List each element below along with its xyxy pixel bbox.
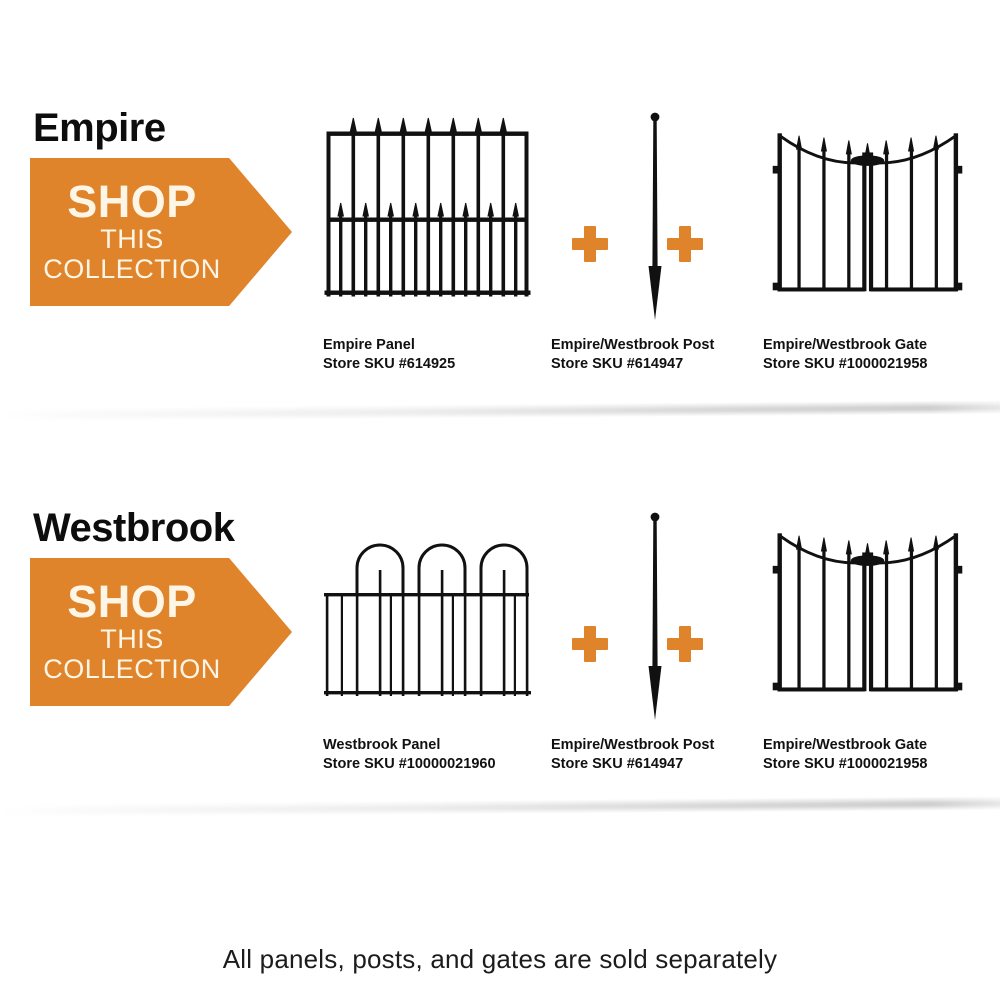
product-caption-empire-panel: Empire Panel Store SKU #614925 [323,336,543,374]
product-empire-panel[interactable]: Empire Panel Store SKU #614925 [315,108,540,398]
product-sku: Store SKU #1000021958 [763,355,983,374]
product-empire-gate[interactable]: Empire/Westbrook Gate Store SKU #1000021… [755,108,980,398]
westbrook-panel-icon [315,508,540,730]
collection-title-empire: Empire [33,108,310,148]
collection-row-empire: Empire SHOP THIS COLLECTION [0,108,1000,408]
collection-row-westbrook: Westbrook SHOP THIS COLLECTION [0,508,1000,808]
product-name: Empire/Westbrook Gate [763,336,983,355]
product-caption-empire-gate: Empire/Westbrook Gate Store SKU #1000021… [763,336,983,374]
product-name: Westbrook Panel [323,736,543,755]
footer-disclaimer: All panels, posts, and gates are sold se… [0,944,1000,975]
product-empire-post[interactable]: Empire/Westbrook Post Store SKU #614947 [543,108,768,398]
collection-title-westbrook: Westbrook [33,508,310,548]
shop-this-label: THIS [100,224,164,254]
product-sku: Store SKU #614947 [551,355,771,374]
promo-block-westbrook: Westbrook SHOP THIS COLLECTION [30,508,310,738]
shop-label: SHOP [67,180,197,224]
product-westbrook-post[interactable]: Empire/Westbrook Post Store SKU #614947 [543,508,768,798]
fence-post-icon [543,108,768,330]
product-caption-westbrook-panel: Westbrook Panel Store SKU #10000021960 [323,736,543,774]
product-sku: Store SKU #614947 [551,755,771,774]
product-list-westbrook: Westbrook Panel Store SKU #10000021960 [315,508,995,798]
fence-post-icon [543,508,768,730]
product-caption-westbrook-gate: Empire/Westbrook Gate Store SKU #1000021… [763,736,983,774]
product-westbrook-gate[interactable]: Empire/Westbrook Gate Store SKU #1000021… [755,508,980,798]
shop-label: SHOP [67,580,197,624]
product-caption-empire-post: Empire/Westbrook Post Store SKU #614947 [551,336,771,374]
product-name: Empire/Westbrook Post [551,336,771,355]
plus-icon [667,626,703,662]
shop-collection-label: COLLECTION [43,654,221,684]
product-caption-westbrook-post: Empire/Westbrook Post Store SKU #614947 [551,736,771,774]
shop-this-collection-button-westbrook[interactable]: SHOP THIS COLLECTION [30,558,292,706]
product-name: Empire/Westbrook Post [551,736,771,755]
shop-this-label: THIS [100,624,164,654]
product-sku: Store SKU #614925 [323,355,543,374]
product-list-empire: Empire Panel Store SKU #614925 [315,108,995,398]
product-westbrook-panel[interactable]: Westbrook Panel Store SKU #10000021960 [315,508,540,798]
promo-block-empire: Empire SHOP THIS COLLECTION [30,108,310,338]
product-name: Empire Panel [323,336,543,355]
product-name: Empire/Westbrook Gate [763,736,983,755]
shop-this-collection-button-empire[interactable]: SHOP THIS COLLECTION [30,158,292,306]
product-sku: Store SKU #10000021960 [323,755,543,774]
fence-gate-icon [755,108,980,330]
shop-collection-label: COLLECTION [43,254,221,284]
empire-panel-icon [315,108,540,330]
infographic-page: Empire SHOP THIS COLLECTION [0,0,1000,1000]
product-sku: Store SKU #1000021958 [763,755,983,774]
fence-gate-icon [755,508,980,730]
plus-icon [667,226,703,262]
